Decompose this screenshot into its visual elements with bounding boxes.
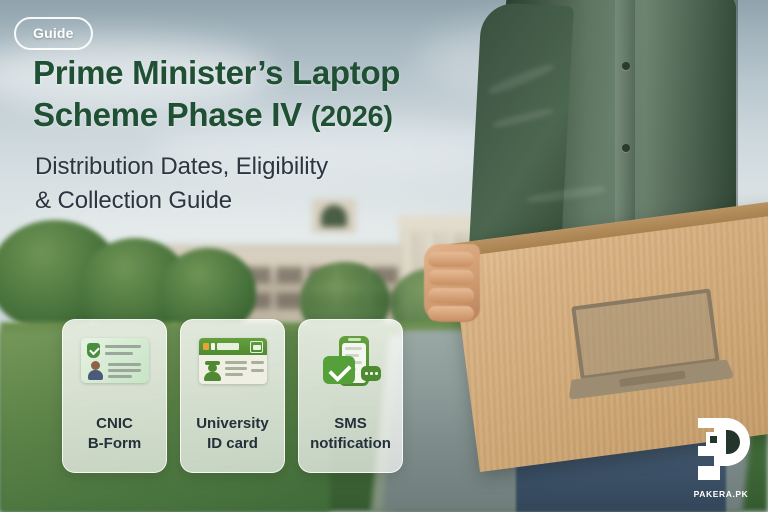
color-block — [211, 343, 215, 350]
card-label: CNIC B-Form — [88, 414, 141, 454]
headline-scheme-phase: Scheme Phase IV — [33, 96, 311, 133]
pakera-p-monogram-icon — [692, 418, 750, 480]
card-label-line-2: ID card — [196, 434, 269, 454]
card-cnic-bform[interactable]: CNIC B-Form — [62, 319, 167, 473]
page-title: Prime Minister’s Laptop Scheme Phase IV … — [33, 52, 463, 136]
envelope-check-icon — [323, 356, 355, 384]
requirement-cards: CNIC B-Form — [62, 319, 403, 473]
color-block — [217, 343, 239, 350]
color-block — [203, 343, 209, 350]
card-sms-notification[interactable]: SMS notification — [298, 319, 403, 473]
avatar — [87, 361, 104, 379]
headline-line-1: Prime Minister’s Laptop — [33, 52, 463, 94]
phone-speaker — [348, 338, 361, 341]
photo-frame-icon — [250, 341, 263, 353]
poster-content: Guide Prime Minister’s Laptop Scheme Pha… — [0, 0, 768, 512]
card-label: University ID card — [196, 414, 269, 454]
subtitle-line-1: Distribution Dates, Eligibility — [35, 150, 455, 184]
pakera-wordmark: PAKERA.PK — [694, 489, 749, 499]
chat-bubble-icon — [361, 366, 381, 381]
poster-canvas: Guide Prime Minister’s Laptop Scheme Pha… — [0, 0, 768, 512]
card-label-line-1: SMS — [334, 415, 367, 432]
card-label: SMS notification — [310, 414, 391, 454]
headline-line-2: Scheme Phase IV (2026) — [33, 94, 463, 136]
headline-year: (2026) — [311, 101, 393, 133]
card-university-id[interactable]: University ID card — [180, 319, 285, 473]
university-id-card-icon — [197, 336, 269, 388]
pakera-wordmark-plate: PAKERA.PK — [684, 487, 758, 500]
sms-notification-icon — [315, 336, 387, 388]
card-label-line-1: University — [196, 415, 269, 432]
card-label-line-2: B-Form — [88, 434, 141, 454]
pakera-logo[interactable]: PAKERA.PK — [684, 418, 758, 500]
guide-badge: Guide — [14, 17, 93, 50]
graduate-avatar-icon — [204, 361, 221, 380]
guide-badge-label: Guide — [33, 25, 74, 41]
id-card-icon — [79, 336, 151, 388]
card-label-line-1: CNIC — [96, 415, 133, 432]
verified-shield-icon — [87, 343, 100, 358]
page-subtitle: Distribution Dates, Eligibility & Collec… — [35, 150, 455, 218]
subtitle-line-2: & Collection Guide — [35, 184, 455, 218]
card-label-line-2: notification — [310, 434, 391, 454]
